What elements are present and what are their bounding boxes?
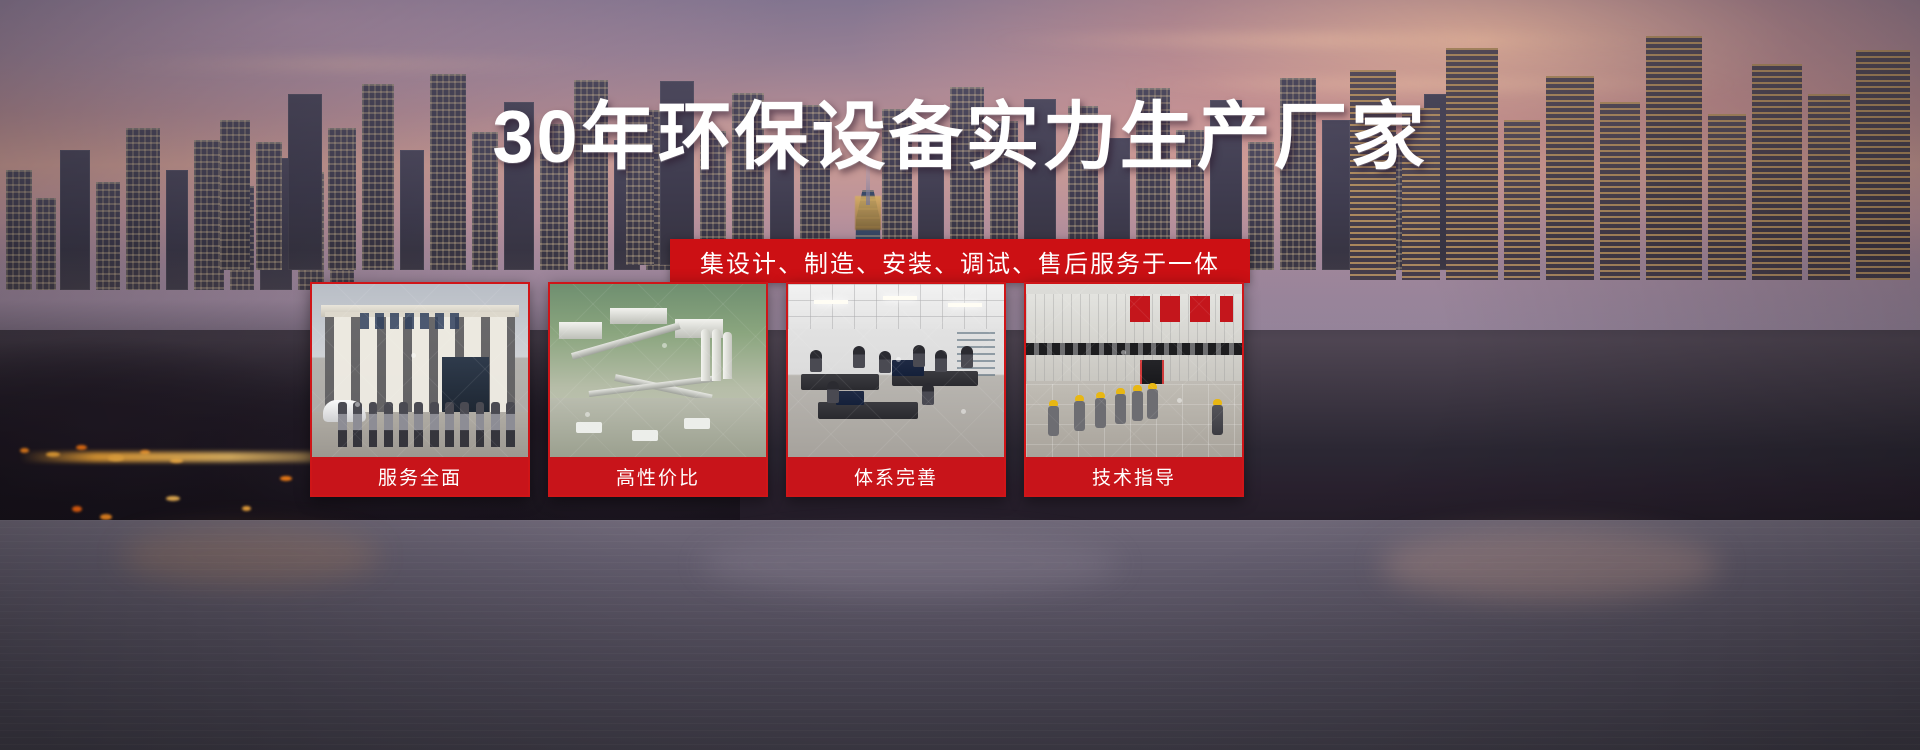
banner-content: 30年环保设备实力生产厂家 集设计、制造、安装、调试、售后服务于一体 — [0, 0, 1920, 750]
banner-headline: 30年环保设备实力生产厂家 — [0, 100, 1920, 174]
banner-subtitle-bar: 集设计、制造、安装、调试、售后服务于一体 — [670, 239, 1250, 283]
card-label: 高性价比 — [550, 457, 766, 495]
banner-subtitle-text: 集设计、制造、安装、调试、售后服务于一体 — [700, 244, 1220, 279]
card-photo-aerial-plant — [550, 284, 766, 457]
card-photo-office-interior — [788, 284, 1004, 457]
feature-card-list: 服务全面 — [310, 282, 1525, 497]
feature-card[interactable]: 技术指导 — [1024, 282, 1244, 497]
feature-card[interactable]: 高性价比 — [548, 282, 768, 497]
card-label: 服务全面 — [312, 457, 528, 495]
card-photo-factory-yard — [1026, 284, 1242, 457]
card-label: 体系完善 — [788, 457, 1004, 495]
feature-card[interactable]: 服务全面 — [310, 282, 530, 497]
feature-card[interactable]: 体系完善 — [786, 282, 1006, 497]
card-photo-office-building — [312, 284, 528, 457]
hero-banner: 30年环保设备实力生产厂家 集设计、制造、安装、调试、售后服务于一体 — [0, 0, 1920, 750]
card-label: 技术指导 — [1026, 457, 1242, 495]
